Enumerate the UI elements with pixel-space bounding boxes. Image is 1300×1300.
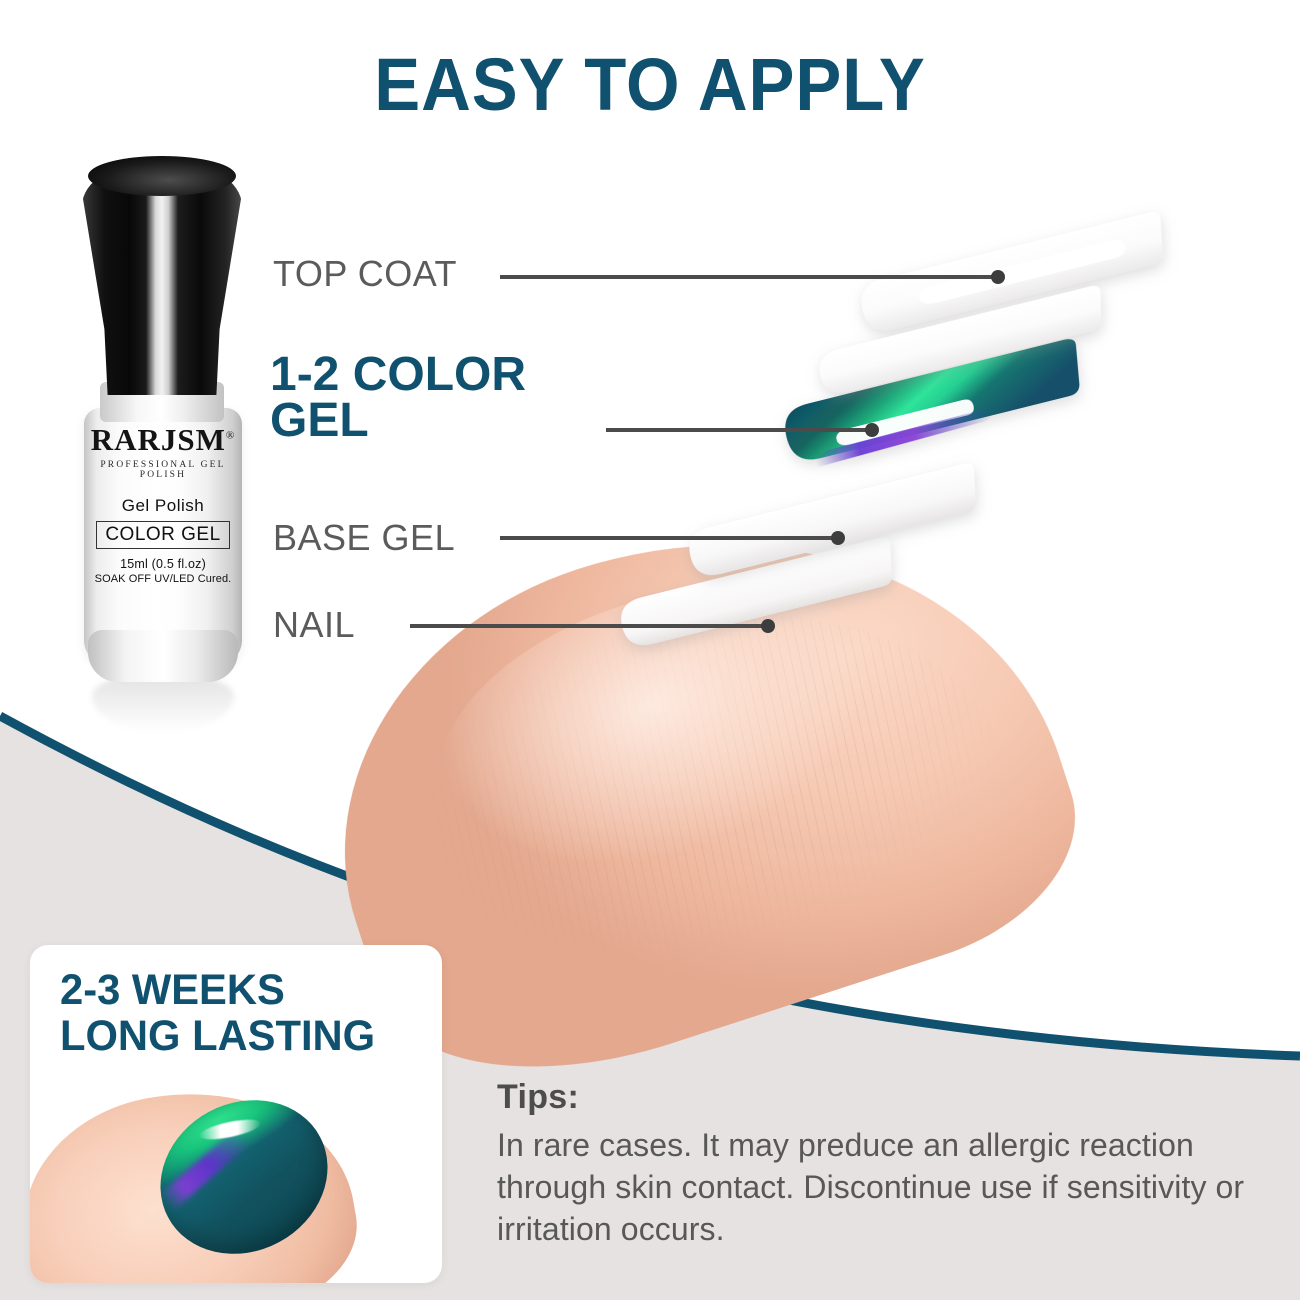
leader-line-top-coat [500,275,998,279]
leader-dot-base-gel [831,531,845,545]
label-nail: NAIL [273,604,355,646]
leader-line-color-gel [606,428,872,432]
longevity-line1: 2-3 WEEKS [60,967,419,1013]
label-top-coat: TOP COAT [273,253,457,295]
label-color-gel-line1: 1-2 COLOR [270,352,526,398]
label-color-gel-line2: GEL [270,398,526,444]
leader-dot-top-coat [991,270,1005,284]
label-color-gel: 1-2 COLOR GEL [270,352,526,443]
longevity-card: 2-3 WEEKS LONG LASTING [30,945,442,1283]
leader-line-nail [410,624,768,628]
infographic-root: EASY TO APPLY RARJSM® PROFESSIONAL GEL P… [0,0,1300,1300]
longevity-line2: LONG LASTING [60,1013,419,1059]
longevity-card-title: 2-3 WEEKS LONG LASTING [60,967,419,1060]
leader-line-base-gel [500,536,838,540]
tips-body: In rare cases. It may preduce an allergi… [497,1124,1267,1251]
tips-heading: Tips: [497,1078,579,1117]
label-base-gel: BASE GEL [273,517,455,559]
leader-dot-color-gel [865,423,879,437]
leader-dot-nail [761,619,775,633]
